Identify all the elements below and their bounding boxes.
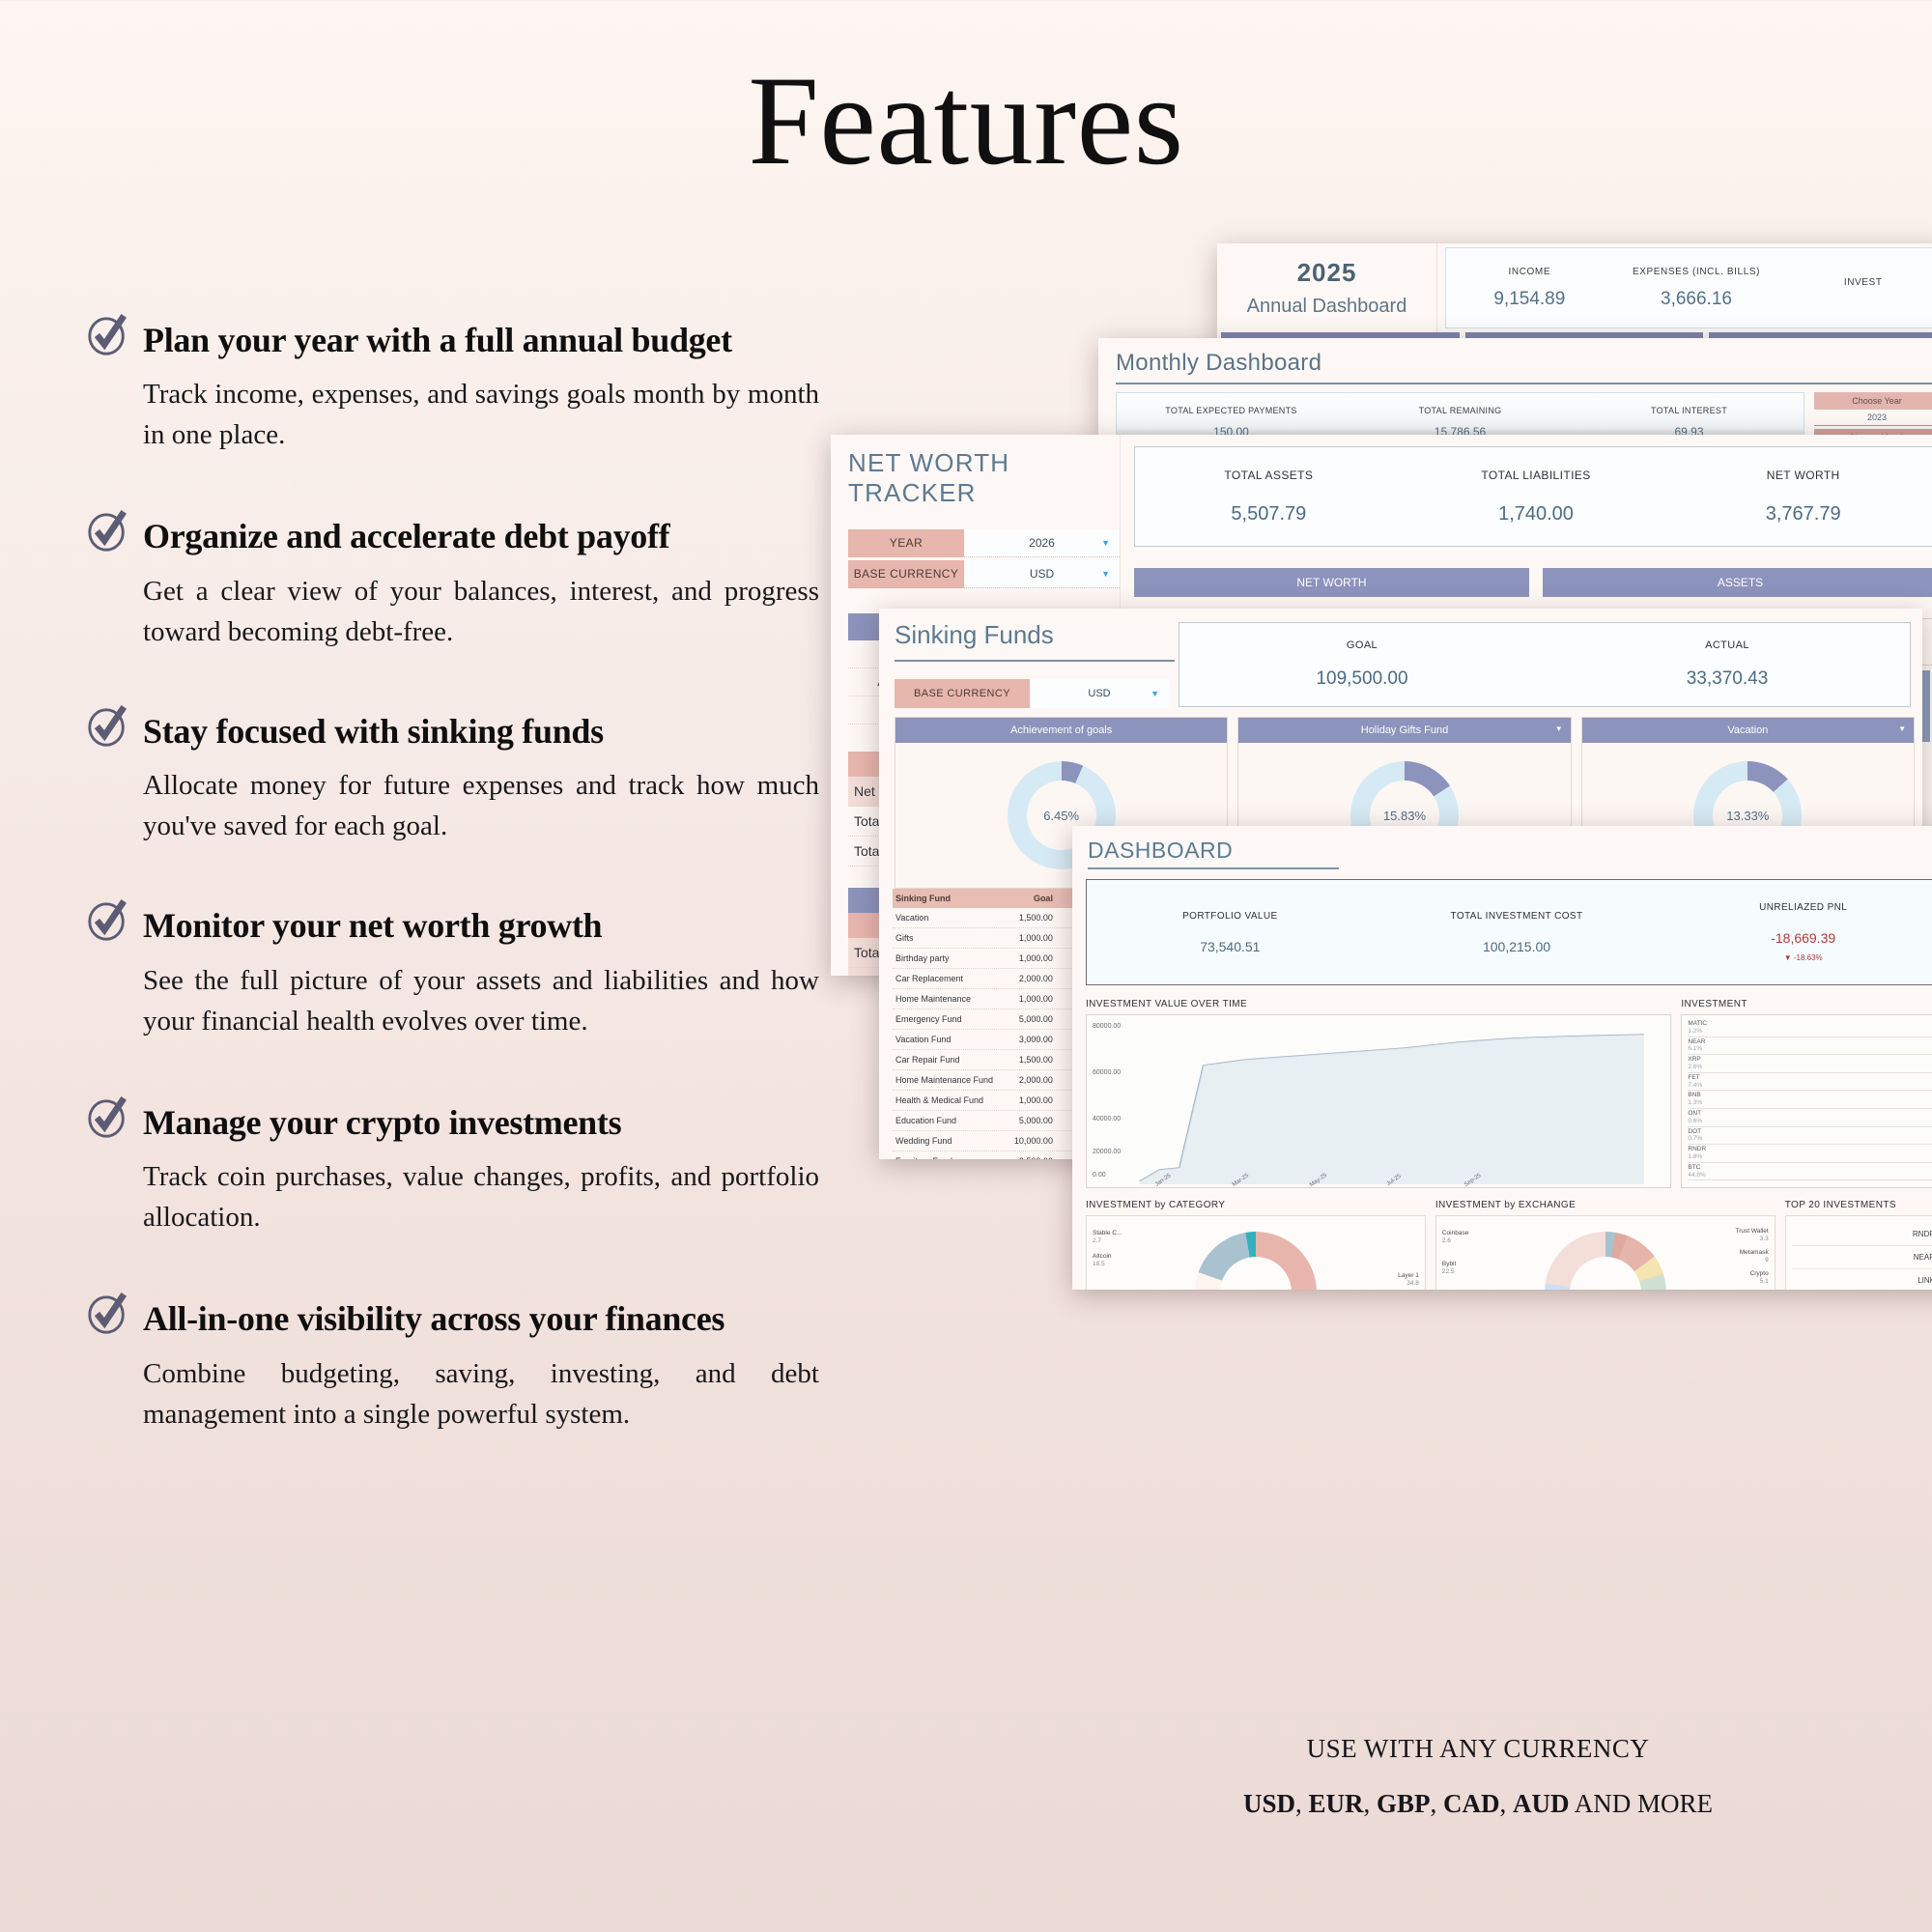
exchange-donut-card: Coinbase2.6 Bybit22.5 KuCoin12.5 Trust W… (1435, 1215, 1776, 1290)
top20-section: TOP 20 INVESTMENTS RNDRNEARLINKOPADAENJA… (1785, 1200, 1932, 1290)
kpi-value: 3,666.16 (1661, 289, 1732, 310)
base-currency-value[interactable]: USD ▼ (1030, 679, 1169, 708)
allocation-section: INVESTMENT MATIC1.2%NEAR6.1%XRP2.6%FET7.… (1681, 999, 1932, 1188)
kpi-total-liabilities: TOTAL LIABILITIES 1,740.00 (1403, 447, 1670, 546)
year-text: 2026 (1029, 536, 1055, 550)
screenshot-stack: 2025 Annual Dashboard INCOME 9,154.89 EX… (1024, 0, 1932, 1719)
table-cell: 5,000.00 (998, 1111, 1056, 1130)
chevron-down-icon[interactable]: ▼ (1101, 569, 1110, 579)
donut-value: 15.83% (1383, 809, 1426, 823)
chevron-down-icon[interactable]: ▼ (1101, 538, 1110, 548)
donut-value: 6.45% (1043, 809, 1079, 823)
allocation-pct: 1.2% (1688, 1028, 1932, 1036)
table-cell: 10,000.00 (998, 1131, 1056, 1151)
sinking-base-currency-selector[interactable]: BASE CURRENCY USD ▼ (895, 679, 1169, 708)
kpi-goal: GOAL 109,500.00 (1179, 623, 1545, 706)
kpi-label: GOAL (1347, 639, 1378, 651)
feature-description: Get a clear view of your balances, inter… (143, 571, 819, 652)
annual-year: 2025 (1297, 258, 1357, 288)
table-cell: 2,500.00 (998, 1151, 1056, 1159)
donut-label: Stable C...2.7 (1093, 1230, 1122, 1245)
allocation-item: NEAR6.1% (1688, 1037, 1932, 1056)
choose-year-label[interactable]: Choose Year (1814, 392, 1932, 410)
base-currency-value[interactable]: USD ▼ (964, 560, 1120, 588)
kpi-label: TOTAL REMAINING (1419, 406, 1502, 415)
donut-label: Trust Wallet3.3 (1736, 1228, 1769, 1243)
top20-item: LINK (1792, 1269, 1932, 1290)
currency-note: USE WITH ANY CURRENCY USD, EUR, GBP, CAD… (1024, 1734, 1932, 1819)
table-cell: 3,000.00 (998, 1030, 1056, 1049)
exchange-donut-section: INVESTMENT by EXCHANGE Coinbase2.6 Bybit… (1435, 1200, 1776, 1290)
chevron-down-icon[interactable]: ▼ (1555, 724, 1563, 733)
kpi-value: 73,540.51 (1200, 939, 1260, 954)
allocation-name: BTC (1688, 1164, 1700, 1171)
area-series (1087, 1015, 1670, 1188)
chart-title: NET WORTH (1134, 568, 1529, 597)
section-label: INVESTMENT by CATEGORY (1086, 1200, 1426, 1210)
donut-label: Metamask9 (1740, 1249, 1769, 1264)
kpi-total-investment-cost: TOTAL INVESTMENT COST 100,215.00 (1374, 880, 1661, 984)
kpi-value: 33,370.43 (1687, 668, 1769, 690)
kpi-value: 109,500.00 (1316, 668, 1407, 690)
year-selector[interactable]: YEAR 2026 ▼ (848, 529, 1120, 557)
table-cell: Gifts (893, 928, 998, 948)
kpi-label: EXPENSES (INCL. BILLS) (1633, 267, 1760, 277)
kpi-expenses: EXPENSES (INCL. BILLS) 3,666.16 (1613, 248, 1780, 327)
table-cell: Home Maintenance (893, 989, 998, 1009)
table-cell: 1,500.00 (998, 1050, 1056, 1069)
donut-label: Layer 134.8 (1398, 1272, 1419, 1288)
net-worth-kpi-group: TOTAL ASSETS 5,507.79 TOTAL LIABILITIES … (1134, 446, 1932, 547)
table-cell: Vacation (893, 908, 998, 927)
sinking-kpi-group: GOAL 109,500.00 ACTUAL 33,370.43 (1179, 622, 1911, 707)
table-cell: Health & Medical Fund (893, 1091, 998, 1110)
table-cell: 1,000.00 (998, 949, 1056, 968)
category-donut-section: INVESTMENT by CATEGORY Stable C...2.7 Al… (1086, 1200, 1426, 1290)
column-header: Sinking Fund (893, 889, 998, 908)
check-circle-icon (85, 704, 129, 749)
kpi-label: TOTAL INTEREST (1651, 406, 1727, 415)
feature-item: Stay focused with sinking funds Allocate… (85, 710, 867, 846)
donut-chart-category (1195, 1232, 1317, 1290)
top20-item: NEAR (1792, 1246, 1932, 1269)
investment-value-over-time-section: INVESTMENT VALUE OVER TIME 80000.00 6000… (1086, 999, 1671, 1188)
chevron-down-icon[interactable]: ▼ (1151, 689, 1159, 698)
feature-title: Plan your year with a full annual budget (143, 319, 732, 360)
allocation-pct: 2.6% (1688, 1064, 1932, 1071)
axis-tick: 20000.00 (1093, 1149, 1121, 1155)
allocation-name: ONT (1688, 1110, 1701, 1117)
section-label: TOP 20 INVESTMENTS (1785, 1200, 1932, 1210)
check-circle-icon (85, 313, 129, 357)
sinking-funds-title: Sinking Funds (895, 620, 1169, 650)
check-circle-icon (85, 898, 129, 943)
feature-item: Plan your year with a full annual budget… (85, 319, 867, 455)
allocation-name: XRP (1688, 1056, 1700, 1063)
choose-year-value[interactable]: 2023 (1814, 412, 1932, 426)
kpi-label: INCOME (1509, 267, 1551, 277)
allocation-pct: 44.8% (1688, 1172, 1932, 1179)
base-currency-label: BASE CURRENCY (895, 679, 1030, 708)
currency-codes: USD, EUR, GBP, CAD, AUD AND MORE (1024, 1789, 1932, 1819)
annual-dashboard-header: 2025 Annual Dashboard (1217, 243, 1437, 332)
investment-dashboard-screenshot[interactable]: DASHBOARD PORTFOLIO VALUE 73,540.51 TOTA… (1072, 826, 1932, 1290)
allocation-name: DOT (1688, 1128, 1701, 1135)
allocation-item: BTC44.8% (1688, 1163, 1932, 1181)
check-circle-icon (85, 509, 129, 554)
table-cell: 1,000.00 (998, 1091, 1056, 1110)
feature-title: All-in-one visibility across your financ… (143, 1297, 724, 1339)
currency-code: EUR (1308, 1789, 1363, 1818)
table-cell: Birthday party (893, 949, 998, 968)
donut-value: 13.33% (1726, 809, 1769, 823)
table-cell: Emergency Fund (893, 1009, 998, 1029)
table-cell: Wedding Fund (893, 1131, 998, 1151)
table-cell: Furniture Fund (893, 1151, 998, 1159)
currency-code: USD (1243, 1789, 1295, 1818)
kpi-value: 5,507.79 (1231, 503, 1306, 526)
feature-description: Track coin purchases, value changes, pro… (143, 1156, 819, 1237)
allocation-pct: 1.3% (1688, 1099, 1932, 1107)
kpi-total-assets: TOTAL ASSETS 5,507.79 (1135, 447, 1403, 546)
kpi-unrealized-pnl: UNRELIAZED PNL -18,669.39 ▼ -18.63% (1660, 880, 1932, 984)
allocation-pct: 0.6% (1688, 1118, 1932, 1125)
top20-item: RNDR (1792, 1223, 1932, 1246)
donut-title: Achievement of goals (895, 718, 1227, 743)
feature-title: Manage your crypto investments (143, 1101, 621, 1143)
currency-code: GBP (1377, 1789, 1431, 1818)
annual-kpi-group: INCOME 9,154.89 EXPENSES (INCL. BILLS) 3… (1445, 247, 1932, 328)
allocation-item: FET7.4% (1688, 1073, 1932, 1092)
donut-label: Coinbase2.6 (1442, 1230, 1468, 1245)
title-divider (895, 660, 1175, 662)
kpi-actual: ACTUAL 33,370.43 (1545, 623, 1910, 706)
feature-title: Monitor your net worth growth (143, 904, 602, 946)
kpi-net-worth: NET WORTH 3,767.79 (1669, 447, 1932, 546)
allocation-pct: 6.1% (1688, 1045, 1932, 1053)
allocation-item: ONT0.6% (1688, 1109, 1932, 1127)
kpi-value: 3,767.79 (1766, 503, 1841, 526)
table-cell: Education Fund (893, 1111, 998, 1130)
table-cell: 2,000.00 (998, 969, 1056, 988)
table-cell: Car Replacement (893, 969, 998, 988)
kpi-label: TOTAL ASSETS (1224, 469, 1313, 482)
table-cell: 5,000.00 (998, 1009, 1056, 1029)
title-divider (1088, 867, 1339, 869)
table-cell: Car Repair Fund (893, 1050, 998, 1069)
feature-item: Manage your crypto investments Track coi… (85, 1101, 867, 1237)
table-cell: 1,500.00 (998, 908, 1056, 927)
allocation-name: RNDR (1688, 1146, 1706, 1152)
monthly-dashboard-title: Monthly Dashboard (1098, 338, 1932, 383)
kpi-value: 9,154.89 (1493, 289, 1565, 310)
kpi-label: ACTUAL (1705, 639, 1749, 651)
axis-tick: 80000.00 (1093, 1023, 1121, 1030)
axis-tick: 0.00 (1093, 1172, 1106, 1179)
column-header: Goal (998, 889, 1056, 908)
axis-tick: 40000.00 (1093, 1116, 1121, 1122)
allocation-name: NEAR (1688, 1038, 1705, 1045)
donut-title: Vacation ▼ (1582, 718, 1914, 743)
allocation-item: XRP2.6% (1688, 1055, 1932, 1073)
base-currency-selector[interactable]: BASE CURRENCY USD ▼ (848, 560, 1120, 588)
features-list: Plan your year with a full annual budget… (85, 319, 867, 1469)
kpi-label: INVEST (1844, 277, 1883, 288)
section-label: INVESTMENT VALUE OVER TIME (1086, 999, 1671, 1009)
kpi-label: TOTAL LIABILITIES (1481, 469, 1590, 482)
kpi-value: -18,669.39 (1771, 930, 1835, 946)
allocation-pct: 0.7% (1688, 1135, 1932, 1143)
chart-title: ASSETS (1543, 568, 1932, 597)
table-cell: Vacation Fund (893, 1030, 998, 1049)
kpi-label: TOTAL INVESTMENT COST (1451, 911, 1583, 922)
year-value[interactable]: 2026 ▼ (964, 529, 1120, 557)
kpi-label: NET WORTH (1767, 469, 1840, 482)
feature-description: Track income, expenses, and savings goal… (143, 374, 819, 455)
table-cell: 1,000.00 (998, 989, 1056, 1009)
top20-list: RNDRNEARLINKOPADAENJALGOAGIX (1785, 1215, 1932, 1290)
allocation-name: BNB (1688, 1092, 1700, 1098)
donut-label: Altcoin18.5 (1093, 1253, 1112, 1268)
allocation-item: RNDR1.8% (1688, 1145, 1932, 1163)
allocation-item: BNB1.3% (1688, 1091, 1932, 1109)
table-cell: 2,000.00 (998, 1070, 1056, 1090)
feature-title: Organize and accelerate debt payoff (143, 515, 669, 556)
axis-tick: 60000.00 (1093, 1069, 1121, 1076)
allocation-list: MATIC1.2%NEAR6.1%XRP2.6%FET7.4%BNB1.3%ON… (1681, 1014, 1932, 1188)
allocation-pct: 7.4% (1688, 1082, 1932, 1090)
annual-dashboard-screenshot[interactable]: 2025 Annual Dashboard INCOME 9,154.89 EX… (1217, 243, 1932, 352)
allocation-name: MATIC (1688, 1020, 1707, 1027)
section-label: INVESTMENT by EXCHANGE (1435, 1200, 1776, 1210)
kpi-label: PORTFOLIO VALUE (1182, 911, 1277, 922)
feature-title: Stay focused with sinking funds (143, 710, 604, 752)
net-worth-title: NET WORTH TRACKER (848, 448, 1120, 508)
currency-suffix: AND MORE (1575, 1789, 1713, 1818)
currency-text: USD (1088, 688, 1110, 699)
allocation-name: FET (1688, 1074, 1699, 1081)
year-label: YEAR (848, 529, 964, 557)
check-circle-icon (85, 1095, 129, 1140)
kpi-investment: INVEST (1779, 248, 1932, 327)
donut-chart-exchange (1545, 1232, 1666, 1290)
currency-text: USD (1030, 567, 1054, 581)
currency-code: CAD (1443, 1789, 1500, 1818)
category-donut-card: Stable C...2.7 Altcoin18.5 AI7.3 Bitcoin… (1086, 1215, 1426, 1290)
kpi-value: 100,215.00 (1483, 939, 1550, 954)
feature-item: All-in-one visibility across your financ… (85, 1297, 867, 1434)
kpi-portfolio-value: PORTFOLIO VALUE 73,540.51 (1087, 880, 1374, 984)
kpi-income: INCOME 9,154.89 (1446, 248, 1613, 327)
table-cell: Home Maintenance Fund (893, 1070, 998, 1090)
area-chart: 80000.00 60000.00 40000.00 20000.00 0.00… (1086, 1014, 1671, 1188)
kpi-value: 1,740.00 (1498, 503, 1574, 526)
feature-description: See the full picture of your assets and … (143, 960, 819, 1041)
donut-label: Crypto5.1 (1750, 1270, 1769, 1286)
feature-item: Monitor your net worth growth See the fu… (85, 904, 867, 1040)
kpi-delta: ▼ -18.63% (1784, 953, 1823, 962)
allocation-item: DOT0.7% (1688, 1127, 1932, 1146)
investment-dashboard-title: DASHBOARD (1072, 826, 1932, 867)
currency-headline: USE WITH ANY CURRENCY (1024, 1734, 1932, 1764)
chevron-down-icon[interactable]: ▼ (1898, 724, 1906, 733)
investment-kpi-group: PORTFOLIO VALUE 73,540.51 TOTAL INVESTME… (1086, 879, 1932, 985)
feature-description: Combine budgeting, saving, investing, an… (143, 1353, 819, 1435)
donut-title: Holiday Gifts Fund ▼ (1238, 718, 1570, 743)
table-cell: 1,000.00 (998, 928, 1056, 948)
base-currency-label: BASE CURRENCY (848, 560, 964, 588)
allocation-pct: 1.8% (1688, 1153, 1932, 1161)
donut-label: Bybit22.5 (1442, 1261, 1456, 1276)
section-label: INVESTMENT (1681, 999, 1932, 1009)
kpi-label: TOTAL EXPECTED PAYMENTS (1165, 406, 1296, 415)
feature-item: Organize and accelerate debt payoff Get … (85, 515, 867, 651)
kpi-label: UNRELIAZED PNL (1759, 902, 1847, 913)
currency-code: AUD (1513, 1789, 1570, 1818)
annual-subtitle: Annual Dashboard (1247, 296, 1407, 318)
feature-description: Allocate money for future expenses and t… (143, 765, 819, 846)
check-circle-icon (85, 1292, 129, 1336)
allocation-item: MATIC1.2% (1688, 1019, 1932, 1037)
